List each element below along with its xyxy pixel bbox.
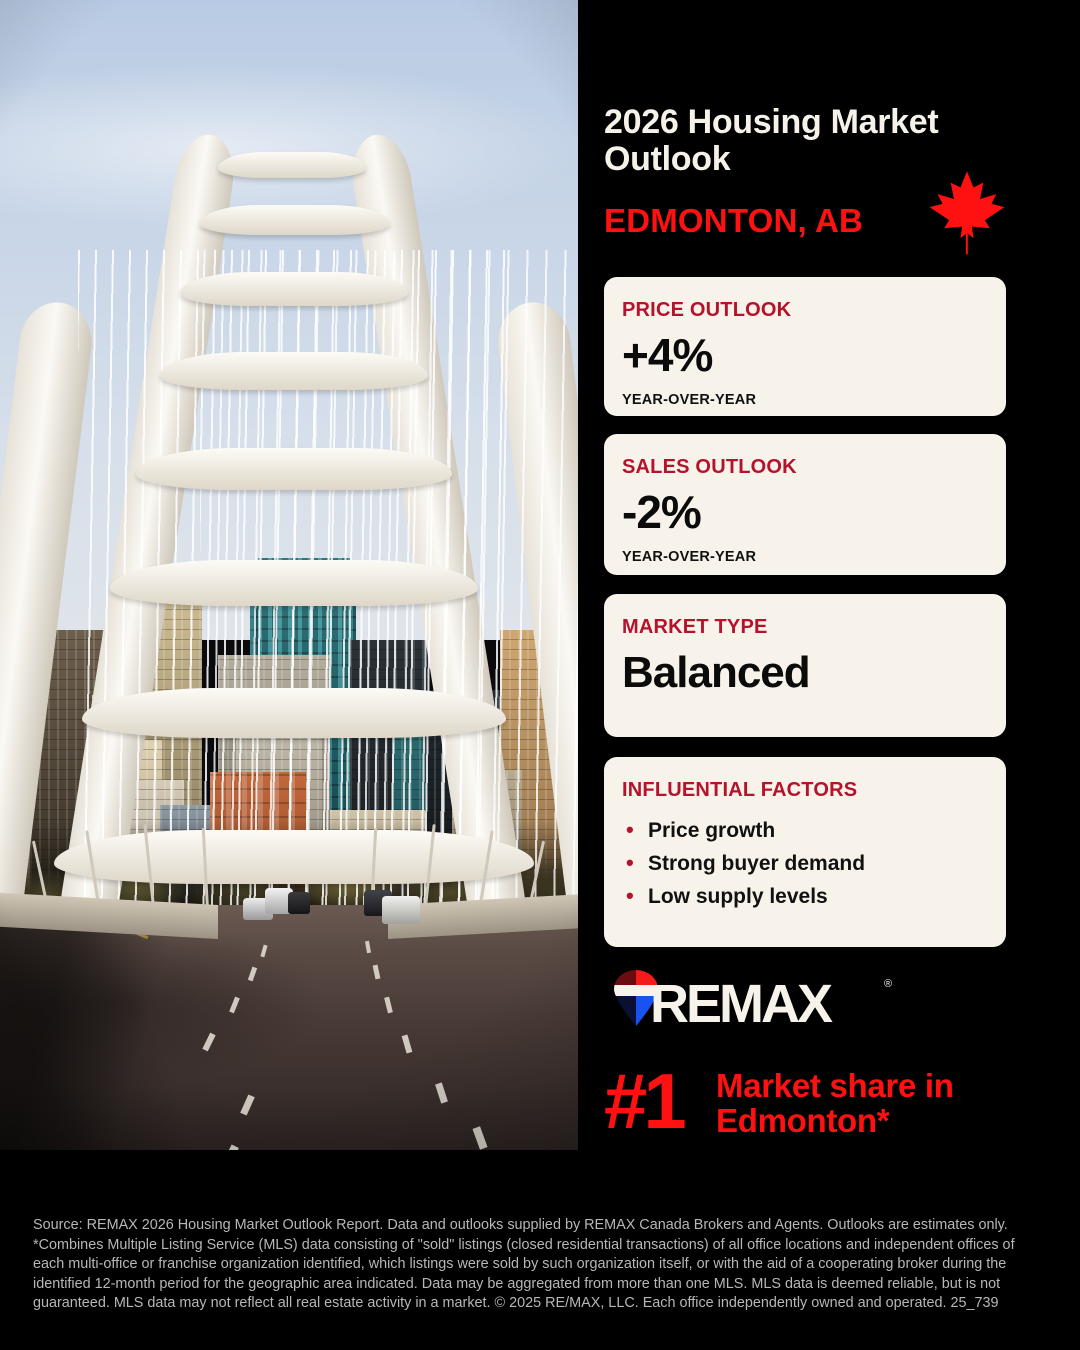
bridge-roadway: [0, 905, 578, 1150]
market-share-callout: #1 Market share in Edmonton*: [604, 1062, 1008, 1158]
vehicle: [382, 896, 420, 924]
registered-trademark-icon: ®: [884, 978, 892, 990]
maple-leaf-icon: [926, 168, 1008, 256]
market-share-text: Market share in Edmonton*: [716, 1068, 1008, 1139]
influential-factors-list: Price growth Strong buyer demand Low sup…: [622, 814, 1006, 914]
footer-disclaimer: Source: REMAX 2026 Housing Market Outloo…: [33, 1216, 1033, 1314]
sales-outlook-card: SALES OUTLOOK -2% YEAR-OVER-YEAR: [604, 434, 1006, 575]
price-outlook-card: PRICE OUTLOOK +4% YEAR-OVER-YEAR: [604, 277, 1006, 416]
walterdale-bridge-edmonton-photo: [0, 0, 578, 1150]
city-name: EDMONTON, AB: [604, 202, 863, 240]
remax-wordmark: REMAX: [650, 973, 830, 1035]
list-item: Low supply levels: [622, 880, 1006, 913]
influential-factors-label: INFLUENTIAL FACTORS: [622, 779, 1006, 802]
price-outlook-value: +4%: [622, 332, 1006, 378]
market-share-rank: #1: [604, 1062, 683, 1140]
influential-factors-card: INFLUENTIAL FACTORS Price growth Strong …: [604, 757, 1006, 947]
remax-logo: REMAX ®: [612, 968, 912, 1030]
market-type-card: MARKET TYPE Balanced: [604, 594, 1006, 737]
market-type-label: MARKET TYPE: [622, 616, 1006, 639]
sales-outlook-label: SALES OUTLOOK: [622, 456, 1006, 479]
sales-outlook-value: -2%: [622, 489, 1006, 535]
sales-outlook-sub: YEAR-OVER-YEAR: [622, 549, 1006, 565]
vehicle: [288, 892, 310, 914]
list-item: Price growth: [622, 814, 1006, 847]
list-item: Strong buyer demand: [622, 847, 1006, 880]
price-outlook-sub: YEAR-OVER-YEAR: [622, 392, 1006, 408]
market-type-value: Balanced: [622, 651, 1006, 695]
info-panel: 2026 Housing Market Outlook EDMONTON, AB…: [604, 0, 1008, 1150]
price-outlook-label: PRICE OUTLOOK: [622, 299, 1006, 322]
